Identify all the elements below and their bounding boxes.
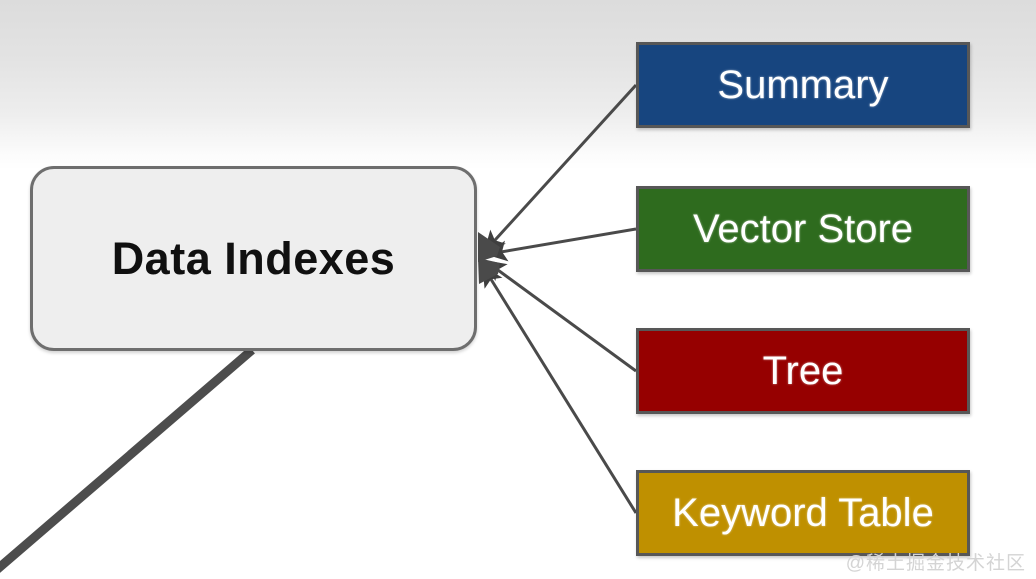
edge-keyword-table-to-hub xyxy=(484,268,636,513)
edge-vector-store-to-hub xyxy=(489,229,636,254)
hub-arrow-cluster-lower xyxy=(478,258,500,284)
node-summary-label: Summary xyxy=(717,63,888,108)
diagram-canvas: Data Indexes Summary Vector Store Tree K… xyxy=(0,0,1036,579)
edge-summary-to-hub xyxy=(486,85,636,250)
node-tree[interactable]: Tree xyxy=(636,328,970,414)
node-summary[interactable]: Summary xyxy=(636,42,970,128)
node-keyword-table[interactable]: Keyword Table xyxy=(636,470,970,556)
node-vector-store-label: Vector Store xyxy=(693,207,913,252)
edge-central-to-offscreen xyxy=(0,350,252,579)
node-data-indexes[interactable]: Data Indexes xyxy=(30,166,477,351)
node-data-indexes-label: Data Indexes xyxy=(112,233,396,285)
edge-tree-to-hub xyxy=(487,262,636,371)
node-tree-label: Tree xyxy=(763,349,844,394)
node-keyword-table-label: Keyword Table xyxy=(672,491,934,536)
node-vector-store[interactable]: Vector Store xyxy=(636,186,970,272)
